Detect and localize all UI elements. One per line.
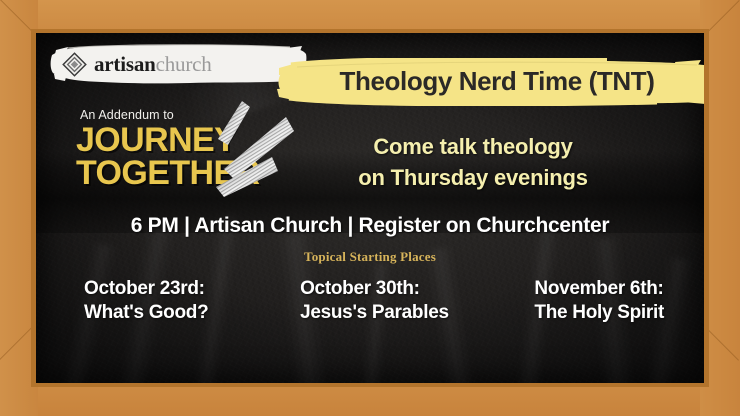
session-item: October 23rd: What's Good?: [84, 277, 208, 326]
session-topic: What's Good?: [84, 301, 208, 325]
title-banner: Theology Nerd Time (TNT): [277, 58, 704, 106]
chalkboard-canvas: artisanchurch An Addendum to JOURNEY TOG…: [36, 33, 704, 383]
logo-word-artisan: artisan: [94, 52, 156, 76]
session-topic: The Holy Spirit: [534, 301, 664, 325]
logo-lockup: artisanchurch: [62, 48, 212, 80]
title-text: Theology Nerd Time (TNT): [277, 58, 704, 106]
session-date: November 6th:: [534, 277, 664, 301]
subtitle-line2: on Thursday evenings: [258, 162, 688, 193]
subtitle-line1: Come talk theology: [258, 131, 688, 162]
session-date: October 30th:: [300, 277, 449, 301]
session-list: October 23rd: What's Good? October 30th:…: [84, 277, 664, 326]
session-topic: Jesus's Parables: [300, 301, 449, 325]
topical-starting-places-label: Topical Starting Places: [36, 249, 704, 265]
session-item: November 6th: The Holy Spirit: [534, 277, 664, 326]
poster-frame: artisanchurch An Addendum to JOURNEY TOG…: [0, 0, 740, 416]
session-item: October 30th: Jesus's Parables: [300, 277, 449, 326]
logo-wordmark: artisanchurch: [94, 54, 212, 75]
event-details-line: 6 PM | Artisan Church | Register on Chur…: [36, 214, 704, 238]
subtitle: Come talk theology on Thursday evenings: [258, 131, 688, 193]
artisan-diamond-mark: [62, 52, 87, 77]
addendum-label: An Addendum to: [80, 108, 174, 122]
logo-word-church: church: [156, 52, 212, 76]
session-date: October 23rd:: [84, 277, 208, 301]
chalk-shard-small: [218, 101, 250, 145]
